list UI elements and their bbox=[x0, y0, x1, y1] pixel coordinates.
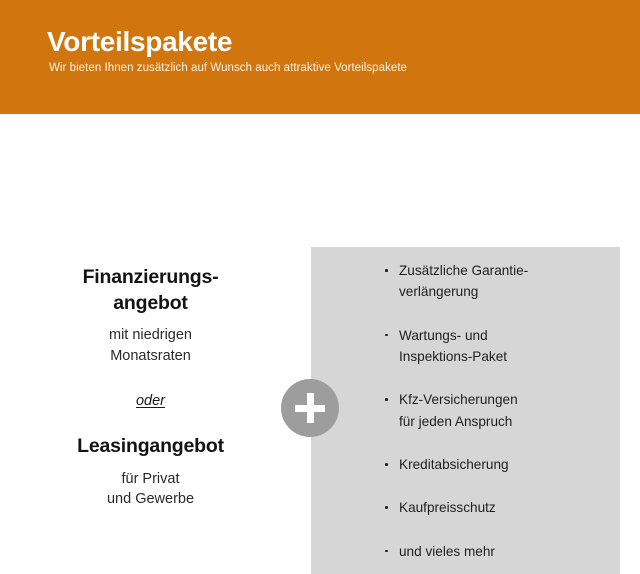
benefits-list: Zusätzliche Garantie- verlängerung Wartu… bbox=[383, 260, 598, 562]
leasing-offer-subtitle-line2: und Gewerbe bbox=[18, 489, 283, 510]
bullet-icon bbox=[385, 463, 388, 466]
offer-divider-label: oder bbox=[136, 393, 165, 409]
bullet-icon bbox=[385, 334, 388, 337]
financing-offer-title: Finanzierungs- angebot bbox=[18, 264, 283, 316]
financing-offer-subtitle: mit niedrigen Monatsraten bbox=[18, 325, 283, 366]
plus-icon-vertical-bar bbox=[307, 393, 315, 423]
financing-offer-subtitle-line1: mit niedrigen bbox=[18, 325, 283, 346]
leasing-offer: Leasingangebot für Privat und Gewerbe bbox=[18, 434, 283, 510]
financing-offer: Finanzierungs- angebot mit niedrigen Mon… bbox=[18, 264, 283, 366]
financing-offer-subtitle-line2: Monatsraten bbox=[18, 346, 283, 367]
plus-icon bbox=[281, 379, 339, 437]
financing-offer-title-line2: angebot bbox=[18, 290, 283, 316]
leasing-offer-title: Leasingangebot bbox=[18, 434, 283, 459]
list-item-line2: verlängerung bbox=[399, 281, 598, 302]
list-item-line1: Zusätzliche Garantie- bbox=[399, 260, 598, 281]
bullet-icon bbox=[385, 269, 388, 272]
list-item: Kreditabsicherung bbox=[383, 454, 598, 475]
list-item-line1: und vieles mehr bbox=[399, 541, 598, 562]
list-item-line1: Kreditabsicherung bbox=[399, 454, 598, 475]
list-item: Wartungs- und Inspektions-Paket bbox=[383, 325, 598, 368]
list-item-line1: Kaufpreisschutz bbox=[399, 497, 598, 518]
bullet-icon bbox=[385, 550, 388, 553]
list-item: Kaufpreisschutz bbox=[383, 497, 598, 518]
list-item-line2: für jeden Anspruch bbox=[399, 411, 598, 432]
header-banner: Vorteilspakete Wir bieten Ihnen zusätzli… bbox=[0, 0, 640, 114]
offers-column: Finanzierungs- angebot mit niedrigen Mon… bbox=[18, 264, 283, 510]
list-item-line2: Inspektions-Paket bbox=[399, 346, 598, 367]
list-item: Zusätzliche Garantie- verlängerung bbox=[383, 260, 598, 303]
leasing-offer-subtitle: für Privat und Gewerbe bbox=[18, 469, 283, 510]
page-title: Vorteilspakete bbox=[47, 28, 232, 56]
bullet-icon bbox=[385, 398, 388, 401]
financing-offer-title-line1: Finanzierungs- bbox=[18, 264, 283, 290]
list-item-line1: Kfz-Versicherungen bbox=[399, 389, 598, 410]
bullet-icon bbox=[385, 506, 388, 509]
list-item: Kfz-Versicherungen für jeden Anspruch bbox=[383, 389, 598, 432]
list-item-line1: Wartungs- und bbox=[399, 325, 598, 346]
leasing-offer-subtitle-line1: für Privat bbox=[18, 469, 283, 490]
content-area: Finanzierungs- angebot mit niedrigen Mon… bbox=[0, 114, 640, 480]
page-subtitle: Wir bieten Ihnen zusätzlich auf Wunsch a… bbox=[49, 63, 407, 75]
offer-divider: oder bbox=[18, 392, 283, 410]
list-item: und vieles mehr bbox=[383, 541, 598, 562]
